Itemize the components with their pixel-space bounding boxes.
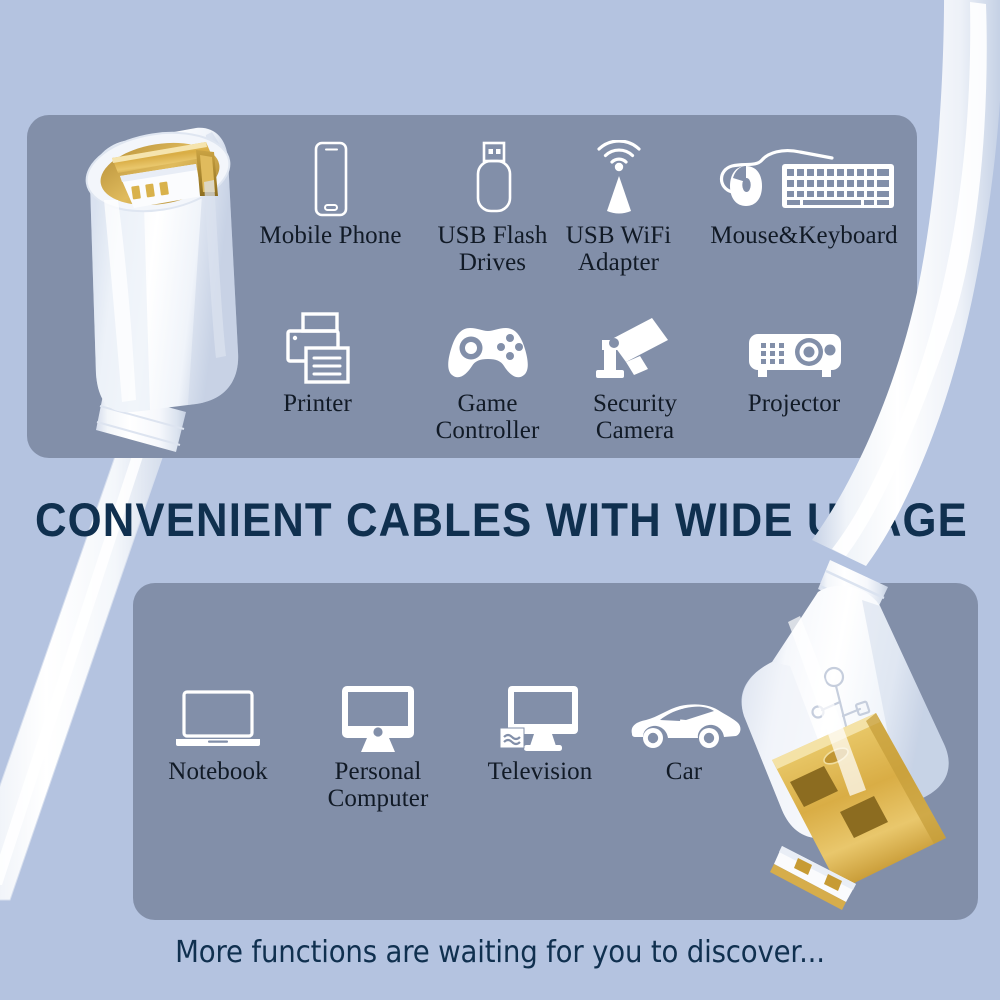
- notebook-icon: [148, 676, 288, 754]
- footer-text: More functions are waiting for you to di…: [40, 935, 960, 970]
- device-item-television[interactable]: Television: [470, 676, 610, 785]
- device-label: Car: [614, 758, 754, 785]
- infographic-canvas: Mobile Phone USB Flash Drives: [0, 0, 1000, 1000]
- television-icon: [470, 676, 610, 754]
- device-label: Personal Computer: [308, 758, 448, 812]
- headline-text: CONVENIENT CABLES WITH WIDE USAGE: [35, 492, 965, 547]
- device-item-car[interactable]: Car: [614, 676, 754, 785]
- device-label: Television: [470, 758, 610, 785]
- device-item-personal-computer[interactable]: Personal Computer: [308, 676, 448, 812]
- device-label: Notebook: [148, 758, 288, 785]
- device-item-notebook[interactable]: Notebook: [148, 676, 288, 785]
- car-icon: [614, 676, 754, 754]
- desktop-computer-icon: [308, 676, 448, 754]
